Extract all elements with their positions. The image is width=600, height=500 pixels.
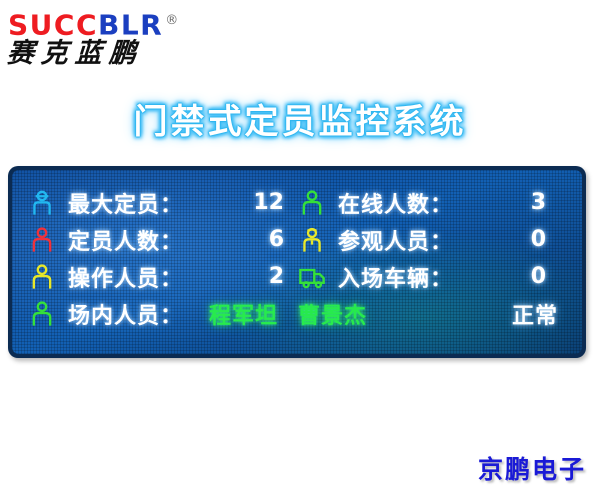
person-with-hat-icon: [298, 226, 326, 254]
led-label: 最大定员：: [68, 187, 183, 219]
led-cell-assigned-count: 定员人数： 6: [28, 224, 298, 256]
led-label: 场内人员：: [68, 298, 183, 330]
brand-wordmark-blue: BLR: [98, 8, 163, 41]
status-badge: 正常: [512, 298, 566, 330]
led-label: 在线人数：: [338, 187, 453, 219]
led-cell-visitor-count: 参观人员： 0: [298, 224, 560, 256]
led-cell-max-capacity: 最大定员： 12: [28, 187, 298, 219]
led-value: 6: [269, 227, 298, 252]
led-label: 操作人员：: [68, 261, 183, 293]
brand-wordmark: SUCCBLR®: [8, 6, 218, 38]
led-value: 12: [253, 190, 298, 215]
footer-company-name: 京鹏电子: [478, 450, 586, 486]
brand-chinese-name: 赛克蓝鹏: [6, 38, 218, 70]
led-screen: 最大定员： 12 在线人数： 3: [12, 170, 582, 354]
person-with-cap-icon: [28, 189, 56, 217]
page-title: 门禁式定员监控系统: [0, 94, 600, 143]
person-icon: [28, 226, 56, 254]
led-row: 最大定员： 12 在线人数： 3: [28, 184, 566, 221]
registered-trademark-icon: ®: [165, 13, 178, 28]
person-icon: [28, 300, 56, 328]
truck-icon: [298, 263, 326, 291]
led-value: 2: [269, 264, 298, 289]
person-icon: [298, 189, 326, 217]
led-value: 0: [531, 264, 560, 289]
person-name: 程军坦: [209, 298, 278, 330]
led-row: 定员人数： 6 参观人员： 0: [28, 221, 566, 258]
led-cell-online-count: 在线人数： 3: [298, 187, 560, 219]
person-name: 曹景杰: [298, 298, 367, 330]
led-value: 0: [531, 227, 560, 252]
onsite-personnel-names: 程军坦 曹景杰: [209, 298, 512, 330]
led-cell-vehicle-count: 入场车辆： 0: [298, 261, 560, 293]
led-label: 入场车辆：: [338, 261, 453, 293]
led-value: 3: [531, 190, 560, 215]
person-icon: [28, 263, 56, 291]
led-cell-operator-count: 操作人员： 2: [28, 261, 298, 293]
led-label: 定员人数：: [68, 224, 183, 256]
led-rows: 最大定员： 12 在线人数： 3: [12, 170, 582, 354]
brand-logo: SUCCBLR® 赛克蓝鹏: [8, 6, 218, 74]
led-row-onsite-personnel: 场内人员： 程军坦 曹景杰 正常: [28, 295, 566, 333]
led-row: 操作人员： 2 入场车辆： 0: [28, 258, 566, 295]
brand-wordmark-red: SUCC: [8, 8, 98, 41]
led-display-panel: 最大定员： 12 在线人数： 3: [8, 166, 586, 358]
led-label: 参观人员：: [338, 224, 453, 256]
